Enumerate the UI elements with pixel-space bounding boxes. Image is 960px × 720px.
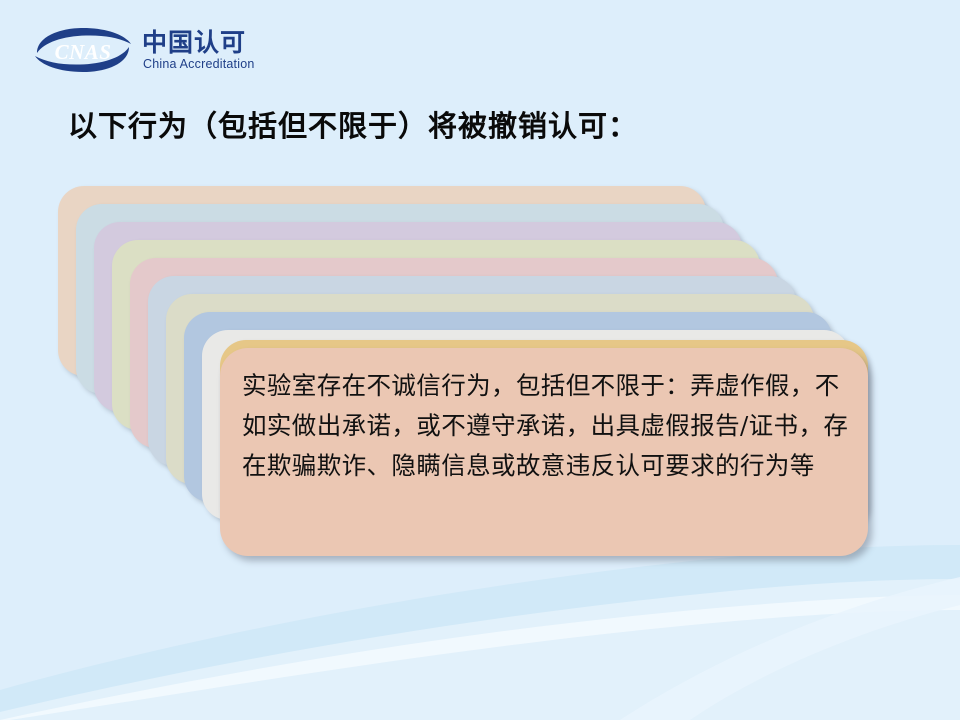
front-card: 实验室存在不诚信行为，包括但不限于：弄虚作假，不如实做出承诺，或不遵守承诺，出具…: [220, 348, 868, 556]
front-card-text: 实验室存在不诚信行为，包括但不限于：弄虚作假，不如实做出承诺，或不遵守承诺，出具…: [242, 366, 852, 486]
slide-canvas: CNAS 中国认可 China Accreditation 以下行为（包括但不限…: [0, 0, 960, 720]
card-stack: 实验室存在不诚信行为，包括但不限于：弄虚作假，不如实做出承诺，或不遵守承诺，出具…: [0, 0, 960, 720]
